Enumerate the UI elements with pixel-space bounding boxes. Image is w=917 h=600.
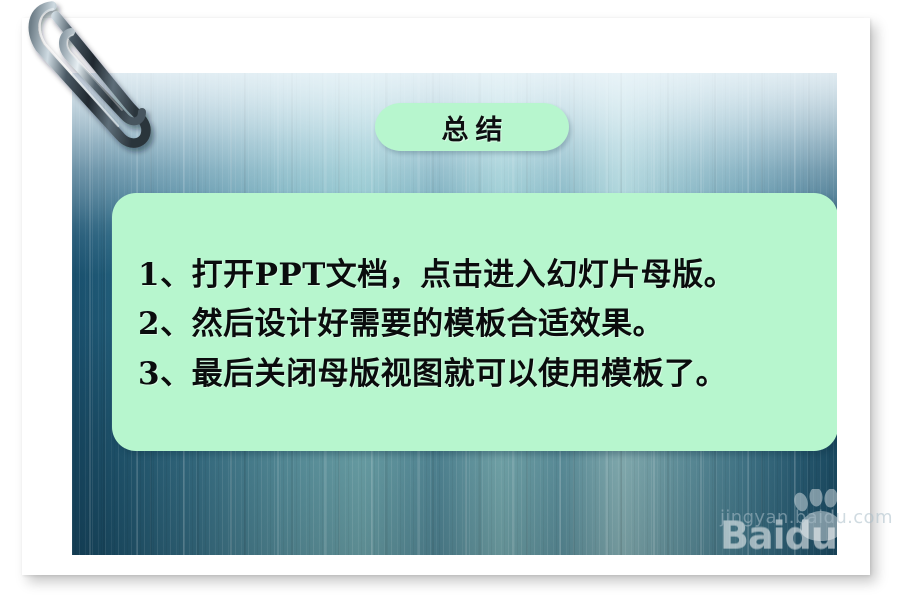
watermark-url-wrap: jingyan.baidu.com (720, 507, 893, 528)
slide-title: 总结 (435, 108, 510, 147)
photo-frame: 总结 1、打开PPT文档，点击进入幻灯片母版。 2、然后设计好需要的模板合适效果… (22, 18, 870, 575)
body-line-1: 1、打开PPT文档，点击进入幻灯片母版。 (138, 251, 818, 300)
body-line-3: 3、最后关闭母版视图就可以使用模板了。 (138, 350, 818, 399)
slide-body-box: 1、打开PPT文档，点击进入幻灯片母版。 2、然后设计好需要的模板合适效果。 3… (112, 193, 837, 451)
presentation-slide: 总结 1、打开PPT文档，点击进入幻灯片母版。 2、然后设计好需要的模板合适效果… (72, 73, 837, 555)
body-line-2: 2、然后设计好需要的模板合适效果。 (138, 300, 818, 349)
slide-title-box: 总结 (375, 103, 569, 151)
watermark-url: jingyan.baidu.com (720, 507, 893, 528)
screenshot-canvas: 总结 1、打开PPT文档，点击进入幻灯片母版。 2、然后设计好需要的模板合适效果… (0, 0, 917, 600)
